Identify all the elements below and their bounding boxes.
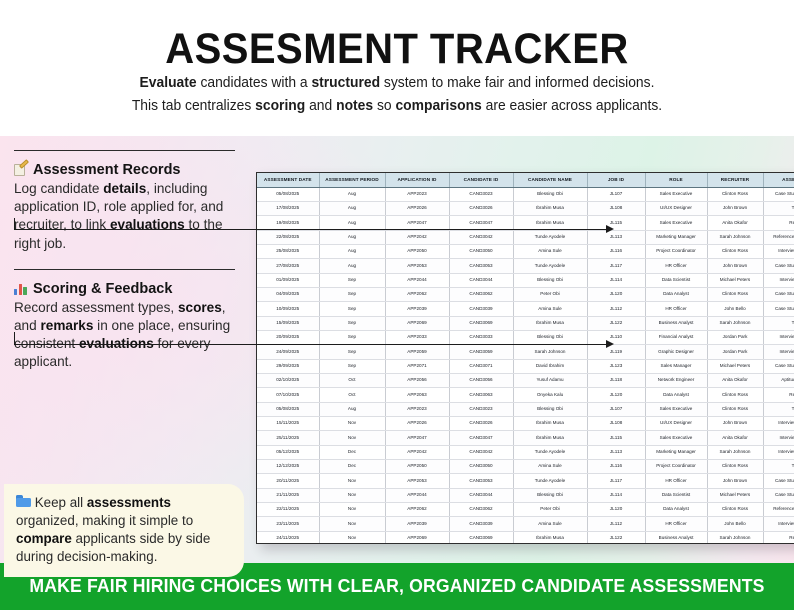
- cell-candidate-id[interactable]: CAND3042: [449, 230, 513, 244]
- table-row[interactable]: 15/11/2025NovAPP2026CAND3026Ibrahim Musa…: [257, 417, 794, 431]
- header-band: ASSESMENT TRACKER Evaluate candidates wi…: [0, 0, 794, 136]
- table-row[interactable]: 05/08/2025AugAPP2023CAND3023Blessing Obi…: [257, 187, 794, 201]
- cell-assessment-type[interactable]: Case Study / Task Assignment: [763, 488, 794, 502]
- cell-job-id[interactable]: JL116: [587, 460, 645, 474]
- cell-role[interactable]: HR Officer: [645, 517, 707, 531]
- cell-assessment-type[interactable]: Case Study / Task Assignment: [763, 259, 794, 273]
- table-row[interactable]: 24/11/2025NovAPP2069CAND3069Ibrahim Musa…: [257, 531, 794, 544]
- cell-job-id[interactable]: JL114: [587, 273, 645, 287]
- cell-assessment-period[interactable]: Oct: [319, 373, 385, 387]
- table-row[interactable]: 25/08/2025AugAPP2050CAND3050Amina SuleJL…: [257, 244, 794, 258]
- cell-application-id[interactable]: APP2042: [385, 230, 449, 244]
- cell-candidate-id[interactable]: CAND3050: [449, 460, 513, 474]
- cell-assessment-type[interactable]: Resume Review: [763, 216, 794, 230]
- cell-assessment-date[interactable]: 25/11/2025: [257, 431, 319, 445]
- cell-assessment-type[interactable]: Aptitude / Cognitive Test: [763, 373, 794, 387]
- subtitle-line-2: This tab centralizes scoring and notes s…: [12, 95, 782, 118]
- info-block-body: Record assessment types, scores, and rem…: [14, 299, 250, 372]
- cell-assessment-period[interactable]: Aug: [319, 244, 385, 258]
- column-header-application-id[interactable]: APPLICATION ID: [385, 173, 449, 187]
- cell-job-id[interactable]: JL107: [587, 402, 645, 416]
- table-head: ASSESSMENT DATEASSESSMENT PERIODAPPLICAT…: [257, 173, 794, 187]
- cell-candidate-name[interactable]: Ibrahim Musa: [513, 417, 587, 431]
- cell-assessment-type[interactable]: Resume Review: [763, 531, 794, 544]
- arrow-stub-bottom: [14, 332, 15, 344]
- info-block-heading: Scoring & Feedback: [14, 281, 250, 297]
- cell-candidate-name[interactable]: Blessing Obi: [513, 330, 587, 344]
- cell-job-id[interactable]: JL116: [587, 244, 645, 258]
- cell-assessment-period[interactable]: Sep: [319, 273, 385, 287]
- note-card-body: Keep all assessments organized, making i…: [16, 494, 230, 566]
- cell-assessment-period[interactable]: Sep: [319, 287, 385, 301]
- cell-candidate-id[interactable]: CAND3039: [449, 517, 513, 531]
- footer-text: MAKE FAIR HIRING CHOICES WITH CLEAR, ORG…: [29, 576, 764, 597]
- cell-role[interactable]: Marketing Manager: [645, 445, 707, 459]
- cell-recruiter[interactable]: Anita Okafor: [707, 431, 763, 445]
- table-row[interactable]: 19/08/2025AugAPP2047CAND3047Ibrahim Musa…: [257, 216, 794, 230]
- cell-candidate-id[interactable]: CAND3026: [449, 201, 513, 215]
- cell-assessment-type[interactable]: Case Study / Task Assignment: [763, 187, 794, 201]
- subtitle-bold-scoring: scoring: [255, 98, 305, 114]
- cell-recruiter[interactable]: Michael Peters: [707, 359, 763, 373]
- cell-candidate-name[interactable]: Ibrahim Musa: [513, 316, 587, 330]
- cell-application-id[interactable]: APP2047: [385, 431, 449, 445]
- cell-application-id[interactable]: APP2033: [385, 330, 449, 344]
- cell-candidate-name[interactable]: Amina Sule: [513, 302, 587, 316]
- cell-role[interactable]: Data Analyst: [645, 503, 707, 517]
- column-header-candidate-name[interactable]: CANDIDATE NAME: [513, 173, 587, 187]
- column-header-assessment-type[interactable]: ASSESSMENT TYPE: [763, 173, 794, 187]
- table-header-row: ASSESSMENT DATEASSESSMENT PERIODAPPLICAT…: [257, 173, 794, 187]
- cell-role[interactable]: Sales Executive: [645, 431, 707, 445]
- cell-candidate-id[interactable]: CAND3039: [449, 302, 513, 316]
- cell-role[interactable]: HR Officer: [645, 259, 707, 273]
- annotation-arrowhead-bottom: [606, 340, 614, 348]
- cell-application-id[interactable]: APP2023: [385, 187, 449, 201]
- subtitle2-pre: This tab centralizes: [132, 98, 255, 114]
- table-row[interactable]: 22/11/2025NovAPP2062CAND3062Peter ObiJL1…: [257, 503, 794, 517]
- subtitle-bold-notes: notes: [336, 98, 373, 114]
- cell-assessment-date[interactable]: 15/11/2025: [257, 417, 319, 431]
- column-header-assessment-period[interactable]: ASSESSMENT PERIOD: [319, 173, 385, 187]
- cell-assessment-period[interactable]: Sep: [319, 345, 385, 359]
- heading-text: Scoring & Feedback: [33, 281, 172, 297]
- cell-assessment-period[interactable]: Aug: [319, 259, 385, 273]
- cell-assessment-date[interactable]: 20/09/2025: [257, 330, 319, 344]
- cell-assessment-period[interactable]: Aug: [319, 201, 385, 215]
- cell-assessment-type[interactable]: Reference & Background Check: [763, 230, 794, 244]
- cell-candidate-name[interactable]: Sarah Johnson: [513, 345, 587, 359]
- cell-job-id[interactable]: JL115: [587, 431, 645, 445]
- cell-assessment-period[interactable]: Aug: [319, 402, 385, 416]
- table-row[interactable]: 01/09/2025SepAPP2044CAND3044Blessing Obi…: [257, 273, 794, 287]
- cell-recruiter[interactable]: Sarah Johnson: [707, 316, 763, 330]
- cell-recruiter[interactable]: Clinton Ross: [707, 460, 763, 474]
- cell-candidate-id[interactable]: CAND3044: [449, 273, 513, 287]
- cell-candidate-name[interactable]: Tunde Ayodele: [513, 230, 587, 244]
- cell-role[interactable]: Marketing Manager: [645, 230, 707, 244]
- table-row[interactable]: 04/09/2025SepAPP2062CAND3062Peter ObiJL1…: [257, 287, 794, 301]
- cell-assessment-date[interactable]: 23/11/2025: [257, 517, 319, 531]
- cell-recruiter[interactable]: Sarah Johnson: [707, 445, 763, 459]
- cell-assessment-type[interactable]: Technical Test: [763, 316, 794, 330]
- cell-assessment-date[interactable]: 20/11/2025: [257, 474, 319, 488]
- cell-application-id[interactable]: APP2050: [385, 244, 449, 258]
- cell-candidate-name[interactable]: David Ibrahim: [513, 359, 587, 373]
- column-header-candidate-id[interactable]: CANDIDATE ID: [449, 173, 513, 187]
- cell-candidate-name[interactable]: Blessing Obi: [513, 488, 587, 502]
- left-info-column: Assessment Records Log candidate details…: [14, 150, 250, 376]
- cell-candidate-name[interactable]: Amina Sule: [513, 460, 587, 474]
- cell-candidate-name[interactable]: Blessing Obi: [513, 273, 587, 287]
- poster-root: ASSESMENT TRACKER Evaluate candidates wi…: [0, 0, 794, 610]
- cell-role[interactable]: Business Analyst: [645, 316, 707, 330]
- cell-assessment-type[interactable]: Interview – Technical/Panel: [763, 417, 794, 431]
- cell-application-id[interactable]: APP2062: [385, 287, 449, 301]
- table-row[interactable]: 29/09/2025SepAPP2071CAND3071David Ibrahi…: [257, 359, 794, 373]
- cell-assessment-type[interactable]: Resume Review: [763, 388, 794, 402]
- cell-recruiter[interactable]: Michael Peters: [707, 273, 763, 287]
- cell-assessment-date[interactable]: 25/08/2025: [257, 244, 319, 258]
- cell-assessment-period[interactable]: Nov: [319, 488, 385, 502]
- cell-candidate-name[interactable]: Tunde Ayodele: [513, 259, 587, 273]
- cell-application-id[interactable]: APP2053: [385, 259, 449, 273]
- cell-assessment-period[interactable]: Dec: [319, 445, 385, 459]
- cell-recruiter[interactable]: Clinton Ross: [707, 503, 763, 517]
- cell-candidate-id[interactable]: CAND3023: [449, 187, 513, 201]
- column-header-job-id[interactable]: JOB ID: [587, 173, 645, 187]
- cell-role[interactable]: Project Coordinator: [645, 460, 707, 474]
- cell-job-id[interactable]: JL110: [587, 330, 645, 344]
- cell-candidate-name[interactable]: Amina Sule: [513, 244, 587, 258]
- column-header-assessment-date[interactable]: ASSESSMENT DATE: [257, 173, 319, 187]
- cell-assessment-period[interactable]: Nov: [319, 431, 385, 445]
- cell-job-id[interactable]: JL107: [587, 187, 645, 201]
- table-row[interactable]: 10/09/2025SepAPP2039CAND3039Amina SuleJL…: [257, 302, 794, 316]
- cell-role[interactable]: HR Officer: [645, 302, 707, 316]
- cell-application-id[interactable]: APP2042: [385, 445, 449, 459]
- table-body[interactable]: 05/08/2025AugAPP2023CAND3023Blessing Obi…: [257, 187, 794, 544]
- table-row[interactable]: 22/08/2025AugAPP2042CAND3042Tunde Ayodel…: [257, 230, 794, 244]
- cell-recruiter[interactable]: John Bello: [707, 302, 763, 316]
- cell-job-id[interactable]: JL115: [587, 216, 645, 230]
- cell-application-id[interactable]: APP2062: [385, 503, 449, 517]
- cell-recruiter[interactable]: Clinton Ross: [707, 287, 763, 301]
- cell-assessment-type[interactable]: Technical Test: [763, 201, 794, 215]
- cell-assessment-period[interactable]: Sep: [319, 316, 385, 330]
- cell-assessment-date[interactable]: 29/09/2025: [257, 359, 319, 373]
- cell-application-id[interactable]: APP2063: [385, 388, 449, 402]
- cell-role[interactable]: Data Analyst: [645, 287, 707, 301]
- cell-candidate-id[interactable]: CAND3071: [449, 359, 513, 373]
- cell-assessment-date[interactable]: 04/09/2025: [257, 287, 319, 301]
- cell-assessment-type[interactable]: Case Study / Task Assignment: [763, 302, 794, 316]
- cell-role[interactable]: Sales Executive: [645, 216, 707, 230]
- body-bold-scores: scores: [178, 300, 222, 315]
- cell-assessment-date[interactable]: 05/08/2025: [257, 187, 319, 201]
- cell-candidate-id[interactable]: CAND3042: [449, 445, 513, 459]
- cell-candidate-id[interactable]: CAND3063: [449, 388, 513, 402]
- cell-role[interactable]: UI/UX Designer: [645, 201, 707, 215]
- table-row[interactable]: 02/10/2025OctAPP2056CAND3056Yusuf AdamuJ…: [257, 373, 794, 387]
- table-row[interactable]: 21/11/2025NovAPP2044CAND3044Blessing Obi…: [257, 488, 794, 502]
- cell-assessment-period[interactable]: Dec: [319, 460, 385, 474]
- cell-recruiter[interactable]: John Brown: [707, 474, 763, 488]
- cell-candidate-id[interactable]: CAND3047: [449, 216, 513, 230]
- table-row[interactable]: 05/12/2025DecAPP2042CAND3042Tunde Ayodel…: [257, 445, 794, 459]
- cell-job-id[interactable]: JL122: [587, 316, 645, 330]
- info-block-assessment-records: Assessment Records Log candidate details…: [14, 162, 250, 253]
- note-bold-assessments: assessments: [87, 495, 171, 510]
- cell-assessment-period[interactable]: Aug: [319, 230, 385, 244]
- subtitle-bold-evaluate: Evaluate: [140, 75, 197, 91]
- column-header-recruiter[interactable]: RECRUITER: [707, 173, 763, 187]
- cell-role[interactable]: Data Scientist: [645, 488, 707, 502]
- cell-recruiter[interactable]: Clinton Ross: [707, 402, 763, 416]
- note-card: Keep all assessments organized, making i…: [4, 484, 244, 577]
- table-row[interactable]: 17/08/2025AugAPP2026CAND3026Ibrahim Musa…: [257, 201, 794, 215]
- cell-candidate-id[interactable]: CAND3023: [449, 402, 513, 416]
- cell-job-id[interactable]: JL122: [587, 531, 645, 544]
- cell-assessment-period[interactable]: Sep: [319, 330, 385, 344]
- cell-assessment-type[interactable]: Interview – Technical/Panel: [763, 445, 794, 459]
- cell-candidate-id[interactable]: CAND3050: [449, 244, 513, 258]
- cell-job-id[interactable]: JL108: [587, 417, 645, 431]
- table-row[interactable]: 24/09/2025SepAPP2059CAND3059Sarah Johnso…: [257, 345, 794, 359]
- cell-candidate-name[interactable]: Ibrahim Musa: [513, 216, 587, 230]
- cell-role[interactable]: Graphic Designer: [645, 345, 707, 359]
- cell-role[interactable]: Project Coordinator: [645, 244, 707, 258]
- cell-candidate-id[interactable]: CAND3059: [449, 345, 513, 359]
- table-row[interactable]: 05/08/2025AugAPP2023CAND3023Blessing Obi…: [257, 402, 794, 416]
- cell-recruiter[interactable]: John Bello: [707, 517, 763, 531]
- cell-candidate-id[interactable]: CAND3053: [449, 474, 513, 488]
- cell-recruiter[interactable]: Sarah Johnson: [707, 230, 763, 244]
- cell-assessment-type[interactable]: Case Study / Task Assignment: [763, 359, 794, 373]
- cell-assessment-period[interactable]: Sep: [319, 302, 385, 316]
- cell-assessment-type[interactable]: Interview – Technical/Panel: [763, 244, 794, 258]
- cell-assessment-date[interactable]: 24/11/2025: [257, 531, 319, 544]
- cell-role[interactable]: UI/UX Designer: [645, 417, 707, 431]
- cell-assessment-date[interactable]: 22/11/2025: [257, 503, 319, 517]
- cell-job-id[interactable]: JL114: [587, 488, 645, 502]
- cell-candidate-id[interactable]: CAND3033: [449, 330, 513, 344]
- cell-candidate-name[interactable]: Peter Obi: [513, 287, 587, 301]
- table-row[interactable]: 07/10/2025OctAPP2063CAND3063Onyeka KaluJ…: [257, 388, 794, 402]
- cell-candidate-id[interactable]: CAND3044: [449, 488, 513, 502]
- cell-application-id[interactable]: APP2026: [385, 417, 449, 431]
- cell-job-id[interactable]: JL117: [587, 474, 645, 488]
- cell-application-id[interactable]: APP2023: [385, 402, 449, 416]
- cell-assessment-period[interactable]: Nov: [319, 531, 385, 544]
- table-row[interactable]: 12/12/2025DecAPP2050CAND3050Amina SuleJL…: [257, 460, 794, 474]
- cell-candidate-id[interactable]: CAND3069: [449, 531, 513, 544]
- cell-job-id[interactable]: JL120: [587, 388, 645, 402]
- cell-candidate-id[interactable]: CAND3047: [449, 431, 513, 445]
- table-row[interactable]: 15/09/2025SepAPP2069CAND3069Ibrahim Musa…: [257, 316, 794, 330]
- cell-candidate-name[interactable]: Ibrahim Musa: [513, 431, 587, 445]
- subtitle-bold-structured: structured: [311, 75, 380, 91]
- page-title: ASSESMENT TRACKER: [28, 27, 766, 72]
- cell-candidate-name[interactable]: Tunde Ayodele: [513, 474, 587, 488]
- cell-assessment-date[interactable]: 01/09/2025: [257, 273, 319, 287]
- table-row[interactable]: 25/11/2025NovAPP2047CAND3047Ibrahim Musa…: [257, 431, 794, 445]
- subtitle2-mid2: so: [373, 98, 395, 114]
- cell-candidate-name[interactable]: Ibrahim Musa: [513, 201, 587, 215]
- cell-recruiter[interactable]: John Brown: [707, 259, 763, 273]
- cell-assessment-date[interactable]: 02/10/2025: [257, 373, 319, 387]
- cell-assessment-type[interactable]: Technical Test: [763, 402, 794, 416]
- cell-candidate-name[interactable]: Yusuf Adamu: [513, 373, 587, 387]
- info-block-heading: Assessment Records: [14, 162, 250, 178]
- cell-assessment-type[interactable]: Reference & Background Check: [763, 503, 794, 517]
- cell-job-id[interactable]: JL108: [587, 201, 645, 215]
- cell-assessment-period[interactable]: Sep: [319, 359, 385, 373]
- table-row[interactable]: 23/11/2025NovAPP2039CAND3039Amina SuleJL…: [257, 517, 794, 531]
- info-block-scoring-feedback: Scoring & Feedback Record assessment typ…: [14, 281, 250, 372]
- table-row[interactable]: 20/11/2025NovAPP2053CAND3053Tunde Ayodel…: [257, 474, 794, 488]
- cell-role[interactable]: HR Officer: [645, 474, 707, 488]
- cell-job-id[interactable]: JL119: [587, 345, 645, 359]
- body-bold-evaluations: evaluations: [110, 217, 185, 232]
- spreadsheet-panel[interactable]: ASSESSMENT DATEASSESSMENT PERIODAPPLICAT…: [256, 172, 794, 544]
- cell-recruiter[interactable]: Sarah Johnson: [707, 531, 763, 544]
- cell-assessment-type[interactable]: Interview – HR/Behavioral: [763, 431, 794, 445]
- cell-application-id[interactable]: APP2026: [385, 201, 449, 215]
- cell-candidate-id[interactable]: CAND3069: [449, 316, 513, 330]
- bar-chart-icon: [14, 282, 28, 295]
- cell-candidate-id[interactable]: CAND3053: [449, 259, 513, 273]
- cell-job-id[interactable]: JL112: [587, 517, 645, 531]
- cell-assessment-type[interactable]: Case Study / Task Assignment: [763, 474, 794, 488]
- cell-candidate-name[interactable]: Peter Obi: [513, 503, 587, 517]
- cell-assessment-period[interactable]: Oct: [319, 388, 385, 402]
- cell-recruiter[interactable]: Anita Okafor: [707, 373, 763, 387]
- cell-assessment-period[interactable]: Aug: [319, 187, 385, 201]
- cell-application-id[interactable]: APP2069: [385, 316, 449, 330]
- cell-assessment-type[interactable]: Case Study / Task Assignment: [763, 287, 794, 301]
- cell-application-id[interactable]: APP2050: [385, 460, 449, 474]
- cell-role[interactable]: Financial Analyst: [645, 330, 707, 344]
- cell-job-id[interactable]: JL113: [587, 445, 645, 459]
- cell-assessment-date[interactable]: 12/12/2025: [257, 460, 319, 474]
- subtitle-line-1: Evaluate candidates with a structured sy…: [12, 72, 782, 95]
- cell-role[interactable]: Network Engineer: [645, 373, 707, 387]
- cell-job-id[interactable]: JL123: [587, 359, 645, 373]
- cell-recruiter[interactable]: John Brown: [707, 201, 763, 215]
- cell-assessment-period[interactable]: Nov: [319, 503, 385, 517]
- cell-role[interactable]: Sales Manager: [645, 359, 707, 373]
- cell-assessment-date[interactable]: 19/08/2025: [257, 216, 319, 230]
- note-part: organized, making it simple to: [16, 513, 193, 528]
- cell-recruiter[interactable]: Michael Peters: [707, 488, 763, 502]
- annotation-arrowhead-top: [606, 225, 614, 233]
- cell-candidate-name[interactable]: Onyeka Kalu: [513, 388, 587, 402]
- subtitle2-end: are easier across applicants.: [482, 98, 662, 114]
- cell-assessment-period[interactable]: Nov: [319, 417, 385, 431]
- cell-assessment-date[interactable]: 05/12/2025: [257, 445, 319, 459]
- cell-candidate-id[interactable]: CAND3056: [449, 373, 513, 387]
- cell-assessment-date[interactable]: 24/09/2025: [257, 345, 319, 359]
- cell-assessment-type[interactable]: Interview – Technical/Panel: [763, 517, 794, 531]
- cell-recruiter[interactable]: John Brown: [707, 417, 763, 431]
- cell-application-id[interactable]: APP2047: [385, 216, 449, 230]
- cell-job-id[interactable]: JL112: [587, 302, 645, 316]
- cell-application-id[interactable]: APP2056: [385, 373, 449, 387]
- cell-recruiter[interactable]: Jordan Park: [707, 330, 763, 344]
- cell-role[interactable]: Sales Executive: [645, 187, 707, 201]
- cell-job-id[interactable]: JL120: [587, 503, 645, 517]
- cell-assessment-date[interactable]: 07/10/2025: [257, 388, 319, 402]
- cell-assessment-date[interactable]: 21/11/2025: [257, 488, 319, 502]
- cell-assessment-period[interactable]: Nov: [319, 517, 385, 531]
- cell-assessment-date[interactable]: 22/08/2025: [257, 230, 319, 244]
- cell-candidate-name[interactable]: Amina Sule: [513, 517, 587, 531]
- cell-job-id[interactable]: JL120: [587, 287, 645, 301]
- cell-assessment-period[interactable]: Aug: [319, 216, 385, 230]
- table-row[interactable]: 20/09/2025SepAPP2033CAND3033Blessing Obi…: [257, 330, 794, 344]
- cell-job-id[interactable]: JL117: [587, 259, 645, 273]
- cell-job-id[interactable]: JL118: [587, 373, 645, 387]
- cell-recruiter[interactable]: Clinton Ross: [707, 388, 763, 402]
- annotation-arrow-top: [14, 229, 608, 230]
- cell-candidate-id[interactable]: CAND3062: [449, 287, 513, 301]
- cell-application-id[interactable]: APP2059: [385, 345, 449, 359]
- cell-assessment-type[interactable]: Technical Test: [763, 460, 794, 474]
- cell-application-id[interactable]: APP2044: [385, 488, 449, 502]
- cell-assessment-type[interactable]: Interview – HR/Behavioral: [763, 273, 794, 287]
- note-part: Keep all: [35, 495, 87, 510]
- cell-assessment-date[interactable]: 15/09/2025: [257, 316, 319, 330]
- cell-role[interactable]: Data Analyst: [645, 388, 707, 402]
- cell-assessment-type[interactable]: Interview – HR/Behavioral: [763, 345, 794, 359]
- divider-middle: [14, 269, 235, 270]
- cell-candidate-name[interactable]: Blessing Obi: [513, 402, 587, 416]
- cell-assessment-date[interactable]: 10/09/2025: [257, 302, 319, 316]
- cell-application-id[interactable]: APP2044: [385, 273, 449, 287]
- cell-recruiter[interactable]: Clinton Ross: [707, 187, 763, 201]
- cell-role[interactable]: Data Scientist: [645, 273, 707, 287]
- cell-candidate-name[interactable]: Blessing Obi: [513, 187, 587, 201]
- cell-application-id[interactable]: APP2069: [385, 531, 449, 544]
- column-header-role[interactable]: ROLE: [645, 173, 707, 187]
- body-bold-remarks: remarks: [40, 318, 93, 333]
- cell-candidate-name[interactable]: Ibrahim Musa: [513, 531, 587, 544]
- cell-recruiter[interactable]: Jordan Park: [707, 345, 763, 359]
- cell-application-id[interactable]: APP2053: [385, 474, 449, 488]
- note-bold-compare: compare: [16, 531, 72, 546]
- cell-assessment-date[interactable]: 27/08/2025: [257, 259, 319, 273]
- cell-role[interactable]: Business Analyst: [645, 531, 707, 544]
- cell-assessment-date[interactable]: 17/08/2025: [257, 201, 319, 215]
- cell-recruiter[interactable]: Anita Okafor: [707, 216, 763, 230]
- cell-assessment-type[interactable]: Interview – HR/Behavioral: [763, 330, 794, 344]
- body-part: Log candidate: [14, 181, 103, 196]
- cell-candidate-id[interactable]: CAND3026: [449, 417, 513, 431]
- cell-assessment-period[interactable]: Nov: [319, 474, 385, 488]
- cell-application-id[interactable]: APP2039: [385, 517, 449, 531]
- cell-job-id[interactable]: JL113: [587, 230, 645, 244]
- cell-application-id[interactable]: APP2039: [385, 302, 449, 316]
- cell-application-id[interactable]: APP2071: [385, 359, 449, 373]
- cell-recruiter[interactable]: Clinton Ross: [707, 244, 763, 258]
- cell-candidate-id[interactable]: CAND3062: [449, 503, 513, 517]
- cell-assessment-date[interactable]: 05/08/2025: [257, 402, 319, 416]
- table-row[interactable]: 27/08/2025AugAPP2053CAND3053Tunde Ayodel…: [257, 259, 794, 273]
- cell-role[interactable]: Sales Executive: [645, 402, 707, 416]
- subtitle-bold-comparisons: comparisons: [395, 98, 481, 114]
- cell-candidate-name[interactable]: Tunde Ayodele: [513, 445, 587, 459]
